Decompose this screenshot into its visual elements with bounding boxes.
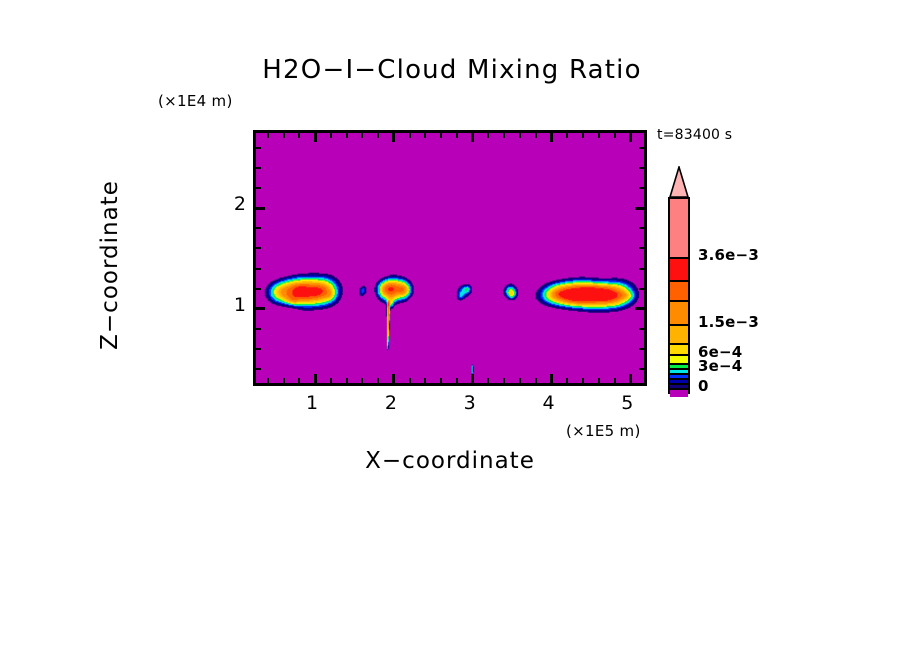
colorbar-tick-label: 1.5e−3 <box>698 313 759 331</box>
x-tick-minor-top <box>456 133 458 138</box>
x-tick-major <box>550 374 553 383</box>
x-tick-minor <box>346 378 348 383</box>
x-tick-minor-top <box>283 133 285 138</box>
y-tick-minor <box>256 328 261 330</box>
x-tick-minor <box>566 378 568 383</box>
colorbar-top-arrow-icon <box>668 166 690 198</box>
x-tick-label: 5 <box>612 392 642 414</box>
x-tick-major-top <box>471 133 474 142</box>
x-tick-label: 4 <box>534 392 564 414</box>
colorbar-separator <box>670 280 688 282</box>
colorbar-tick-label: 3e−4 <box>698 357 742 375</box>
x-tick-major <box>314 374 317 383</box>
x-tick-label: 1 <box>297 392 327 414</box>
x-tick-minor <box>598 378 600 383</box>
colorbar-separator <box>670 300 688 302</box>
x-tick-minor <box>409 378 411 383</box>
y-tick-minor <box>256 147 261 149</box>
x-tick-minor-top <box>424 133 426 138</box>
x-tick-minor-top <box>566 133 568 138</box>
x-axis-unit-label: (×1E5 m) <box>566 422 641 440</box>
x-tick-major-top <box>550 133 553 142</box>
x-tick-major-top <box>314 133 317 142</box>
x-tick-minor <box>582 378 584 383</box>
y-tick-minor <box>256 348 261 350</box>
colorbar-separator <box>670 354 688 356</box>
y-tick-major-right <box>635 307 644 310</box>
x-tick-minor <box>456 378 458 383</box>
colorbar-separator <box>670 373 688 375</box>
heatmap-field <box>256 133 644 383</box>
y-tick-minor-right <box>639 328 644 330</box>
colorbar-separator <box>670 383 688 385</box>
x-tick-minor <box>330 378 332 383</box>
y-tick-major <box>256 207 265 210</box>
x-tick-label: 3 <box>455 392 485 414</box>
x-tick-minor-top <box>614 133 616 138</box>
x-tick-minor-top <box>346 133 348 138</box>
x-tick-minor-top <box>267 133 269 138</box>
y-tick-minor-right <box>639 227 644 229</box>
x-tick-minor <box>645 378 647 383</box>
y-tick-minor <box>256 247 261 249</box>
x-tick-major-top <box>392 133 395 142</box>
x-tick-minor <box>267 378 269 383</box>
colorbar-bands <box>668 197 690 394</box>
colorbar-separator <box>670 378 688 380</box>
x-tick-minor <box>424 378 426 383</box>
x-tick-minor-top <box>582 133 584 138</box>
x-tick-minor <box>283 378 285 383</box>
y-tick-minor-right <box>639 348 644 350</box>
y-tick-major-right <box>635 207 644 210</box>
colorbar-separator <box>670 324 688 326</box>
x-tick-label: 2 <box>376 392 406 414</box>
y-tick-minor <box>256 187 261 189</box>
y-tick-minor-right <box>639 167 644 169</box>
x-tick-minor-top <box>645 133 647 138</box>
x-tick-minor-top <box>535 133 537 138</box>
x-tick-major <box>629 374 632 383</box>
y-tick-minor-right <box>639 268 644 270</box>
colorbar-tick-label: 3.6e−3 <box>698 246 759 264</box>
y-tick-minor <box>256 268 261 270</box>
x-tick-minor-top <box>598 133 600 138</box>
colorbar-band <box>670 199 688 258</box>
colorbar-band <box>670 300 688 324</box>
y-tick-minor <box>256 227 261 229</box>
x-tick-minor-top <box>377 133 379 138</box>
x-tick-minor-top <box>487 133 489 138</box>
y-tick-minor-right <box>639 247 644 249</box>
x-tick-minor <box>614 378 616 383</box>
figure-canvas: H2O−I−Cloud Mixing Ratio (×1E4 m) (×1E5 … <box>0 0 904 654</box>
y-tick-minor <box>256 288 261 290</box>
colorbar-tick-label: 0 <box>698 377 709 395</box>
x-tick-minor <box>440 378 442 383</box>
y-tick-minor-right <box>639 288 644 290</box>
x-tick-minor <box>361 378 363 383</box>
y-tick-label: 1 <box>216 294 246 316</box>
y-axis-title: Z−coordinate <box>97 137 123 393</box>
page-title: H2O−I−Cloud Mixing Ratio <box>0 55 904 85</box>
x-tick-minor-top <box>440 133 442 138</box>
plot-frame <box>253 130 647 386</box>
x-tick-minor <box>519 378 521 383</box>
y-tick-major <box>256 307 265 310</box>
x-tick-minor <box>298 378 300 383</box>
y-tick-label: 2 <box>216 193 246 215</box>
colorbar-separator <box>670 388 688 390</box>
x-tick-minor <box>503 378 505 383</box>
colorbar-separator <box>670 343 688 345</box>
x-tick-minor <box>487 378 489 383</box>
x-tick-minor <box>377 378 379 383</box>
colorbar-separator <box>670 257 688 259</box>
colorbar-separator <box>670 363 688 365</box>
y-tick-minor-right <box>639 368 644 370</box>
y-tick-minor <box>256 368 261 370</box>
colorbar <box>668 166 690 394</box>
y-tick-minor-right <box>639 147 644 149</box>
colorbar-band <box>670 324 688 343</box>
colorbar-separator <box>670 368 688 370</box>
x-tick-major-top <box>629 133 632 142</box>
y-tick-minor <box>256 167 261 169</box>
x-tick-minor <box>535 378 537 383</box>
x-tick-minor-top <box>298 133 300 138</box>
x-tick-major <box>392 374 395 383</box>
x-tick-minor-top <box>503 133 505 138</box>
time-stamp-annotation: t=83400 s <box>657 127 732 143</box>
colorbar-band <box>670 257 688 280</box>
y-axis-unit-label: (×1E4 m) <box>158 92 233 110</box>
x-tick-major <box>471 374 474 383</box>
x-tick-minor-top <box>519 133 521 138</box>
x-tick-minor-top <box>330 133 332 138</box>
y-tick-minor-right <box>639 187 644 189</box>
x-axis-title: X−coordinate <box>253 448 647 474</box>
x-tick-minor-top <box>409 133 411 138</box>
colorbar-band <box>670 280 688 301</box>
x-tick-minor-top <box>361 133 363 138</box>
